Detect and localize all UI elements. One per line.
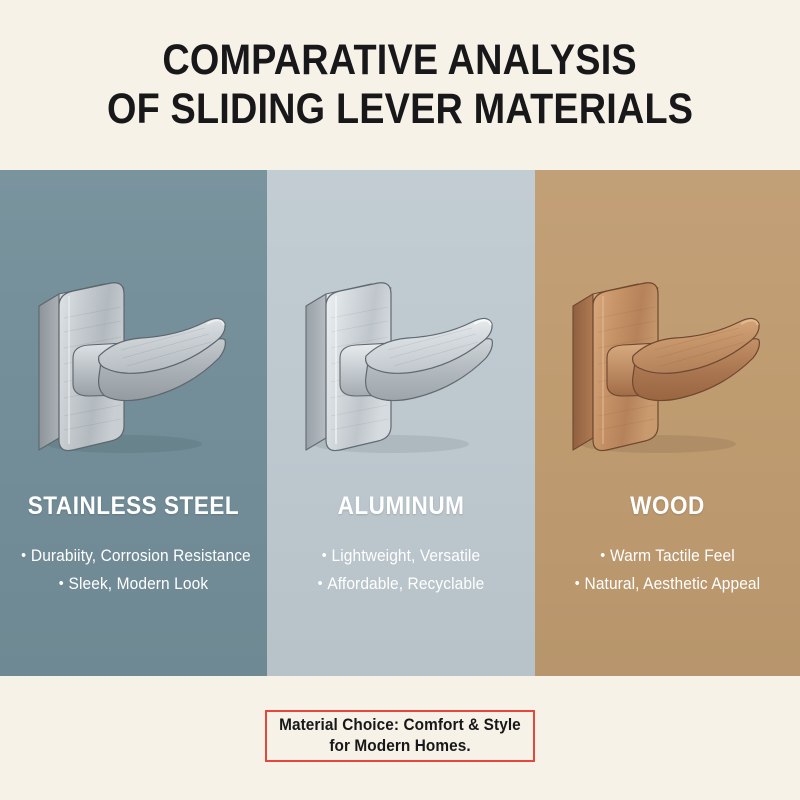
bullet-item: •Affordable, Recyclable bbox=[288, 570, 514, 598]
column-heading-aluminum: ALUMINUM bbox=[280, 492, 521, 521]
bullet-text: Durabiity, Corrosion Resistance bbox=[31, 547, 251, 565]
bullet-item: •Durabiity, Corrosion Resistance bbox=[21, 542, 246, 570]
material-column-stainless-steel[interactable]: STAINLESS STEEL •Durabiity, Corrosion Re… bbox=[0, 170, 267, 676]
material-column-aluminum[interactable]: ALUMINUM •Lightweight, Versatile •Afford… bbox=[267, 170, 535, 676]
bullet-marker-icon: • bbox=[21, 542, 26, 569]
bullet-item: •Sleek, Modern Look bbox=[21, 570, 246, 598]
material-comparison-columns: STAINLESS STEEL •Durabiity, Corrosion Re… bbox=[0, 170, 800, 676]
column-heading-wood: WOOD bbox=[548, 492, 787, 521]
lever-illustration-stainless-steel bbox=[0, 266, 267, 466]
column-bullets-aluminum: •Lightweight, Versatile •Affordable, Rec… bbox=[267, 542, 535, 598]
footer-line-2: for Modern Homes. bbox=[329, 736, 470, 757]
bullet-marker-icon: • bbox=[59, 570, 64, 597]
bullet-marker-icon: • bbox=[575, 570, 580, 597]
bullet-text: Natural, Aesthetic Appeal bbox=[585, 575, 761, 593]
door-lever-icon bbox=[296, 266, 506, 466]
footer-line-1: Material Choice: Comfort & Style bbox=[279, 715, 521, 736]
column-bullets-stainless-steel: •Durabiity, Corrosion Resistance •Sleek,… bbox=[0, 542, 267, 598]
bullet-text: Warm Tactile Feel bbox=[610, 547, 735, 565]
door-lever-icon bbox=[29, 266, 239, 466]
column-heading-stainless-steel: STAINLESS STEEL bbox=[13, 492, 253, 521]
page-title-block: COMPARATIVE ANALYSIS OF SLIDING LEVER MA… bbox=[0, 0, 800, 170]
footer-callout-box: Material Choice: Comfort & Style for Mod… bbox=[265, 710, 535, 762]
bullet-item: •Natural, Aesthetic Appeal bbox=[556, 570, 779, 598]
bullet-marker-icon: • bbox=[318, 570, 323, 597]
bullet-text: Lightweight, Versatile bbox=[332, 547, 481, 565]
door-lever-icon bbox=[563, 266, 773, 466]
page-title-line-1: COMPARATIVE ANALYSIS bbox=[163, 36, 637, 85]
bullet-item: •Warm Tactile Feel bbox=[556, 542, 779, 570]
bullet-marker-icon: • bbox=[322, 542, 327, 569]
page-title-line-2: OF SLIDING LEVER MATERIALS bbox=[107, 85, 693, 134]
bullet-text: Affordable, Recyclable bbox=[327, 575, 484, 593]
bullet-text: Sleek, Modern Look bbox=[69, 575, 209, 593]
material-column-wood[interactable]: WOOD •Warm Tactile Feel •Natural, Aesthe… bbox=[535, 170, 800, 676]
bullet-marker-icon: • bbox=[600, 542, 605, 569]
bullet-item: •Lightweight, Versatile bbox=[288, 542, 514, 570]
column-bullets-wood: •Warm Tactile Feel •Natural, Aesthetic A… bbox=[535, 542, 800, 598]
lever-illustration-aluminum bbox=[267, 266, 535, 466]
lever-illustration-wood bbox=[535, 266, 800, 466]
